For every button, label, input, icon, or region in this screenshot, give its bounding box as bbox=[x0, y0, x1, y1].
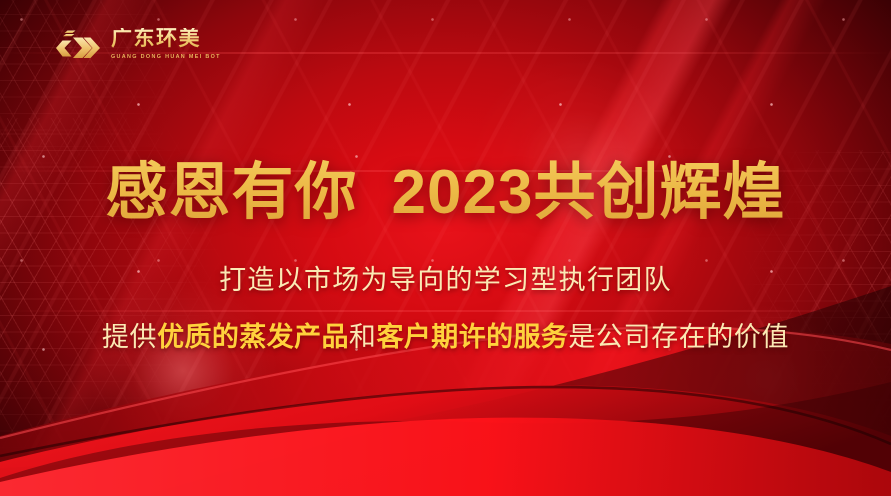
headline-part-1: 感恩有你 bbox=[106, 158, 358, 227]
promotional-banner: 广东环美 GUANG DONG HUAN MEI BOT 感恩有你2023共创辉… bbox=[0, 0, 891, 496]
company-logo[interactable]: 广东环美 GUANG DONG HUAN MEI BOT bbox=[54, 24, 221, 64]
logo-company-name-cn: 广东环美 bbox=[111, 28, 221, 50]
logo-company-name-en: GUANG DONG HUAN MEI BOT bbox=[111, 54, 221, 60]
subtitle2-highlight-service: 客户期许的服务 bbox=[377, 322, 569, 352]
subtitle2-segment-5: 是公司存在的价值 bbox=[568, 322, 789, 352]
subtitle2-segment-3: 和 bbox=[349, 322, 377, 352]
subtitle2-highlight-product: 优质的蒸发产品 bbox=[157, 322, 349, 352]
subtitle-line-2: 提供优质的蒸发产品和客户期许的服务是公司存在的价值 bbox=[0, 299, 891, 355]
headline-part-2: 2023共创辉煌 bbox=[392, 158, 786, 227]
chevron-arrows-logo-icon bbox=[54, 24, 102, 64]
subtitle2-segment-1: 提供 bbox=[102, 322, 157, 352]
subtitle-line-1: 打造以市场为导向的学习型执行团队 bbox=[0, 227, 891, 298]
logo-wordmark: 广东环美 GUANG DONG HUAN MEI BOT bbox=[111, 28, 221, 60]
